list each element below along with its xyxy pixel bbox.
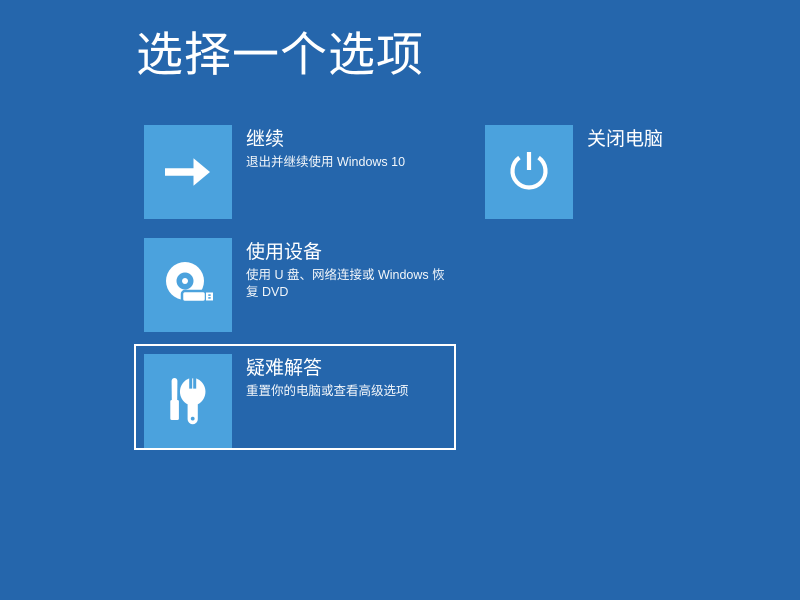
option-continue[interactable]: 继续 退出并继续使用 Windows 10 xyxy=(144,125,474,219)
option-troubleshoot-title: 疑难解答 xyxy=(246,356,456,381)
option-continue-subtitle: 退出并继续使用 Windows 10 xyxy=(246,154,456,171)
option-use-device-title: 使用设备 xyxy=(246,240,456,265)
option-continue-tile xyxy=(144,125,232,219)
recovery-options-screen: 选择一个选项 继续 退出并继续使用 Windows 10 xyxy=(0,0,800,600)
option-use-device-text: 使用设备 使用 U 盘、网络连接或 Windows 恢复 DVD xyxy=(246,240,456,301)
option-use-device[interactable]: 使用设备 使用 U 盘、网络连接或 Windows 恢复 DVD xyxy=(144,238,474,332)
option-turn-off-pc-text: 关闭电脑 xyxy=(587,127,797,154)
option-troubleshoot-text: 疑难解答 重置你的电脑或查看高级选项 xyxy=(246,356,456,400)
option-troubleshoot-subtitle: 重置你的电脑或查看高级选项 xyxy=(246,383,456,400)
option-troubleshoot-tile xyxy=(144,354,232,448)
option-turn-off-pc-title: 关闭电脑 xyxy=(587,127,797,152)
power-icon xyxy=(485,125,573,219)
option-turn-off-pc-tile xyxy=(485,125,573,219)
option-use-device-subtitle: 使用 U 盘、网络连接或 Windows 恢复 DVD xyxy=(246,267,456,301)
option-continue-title: 继续 xyxy=(246,127,456,152)
page-title: 选择一个选项 xyxy=(136,27,424,83)
option-continue-text: 继续 退出并继续使用 Windows 10 xyxy=(246,127,456,171)
screwdriver-wrench-icon xyxy=(144,354,232,448)
option-turn-off-pc[interactable]: 关闭电脑 xyxy=(485,125,785,219)
option-troubleshoot[interactable]: 疑难解答 重置你的电脑或查看高级选项 xyxy=(134,344,456,450)
arrow-right-icon xyxy=(144,125,232,219)
disc-usb-icon xyxy=(144,238,232,332)
option-use-device-tile xyxy=(144,238,232,332)
